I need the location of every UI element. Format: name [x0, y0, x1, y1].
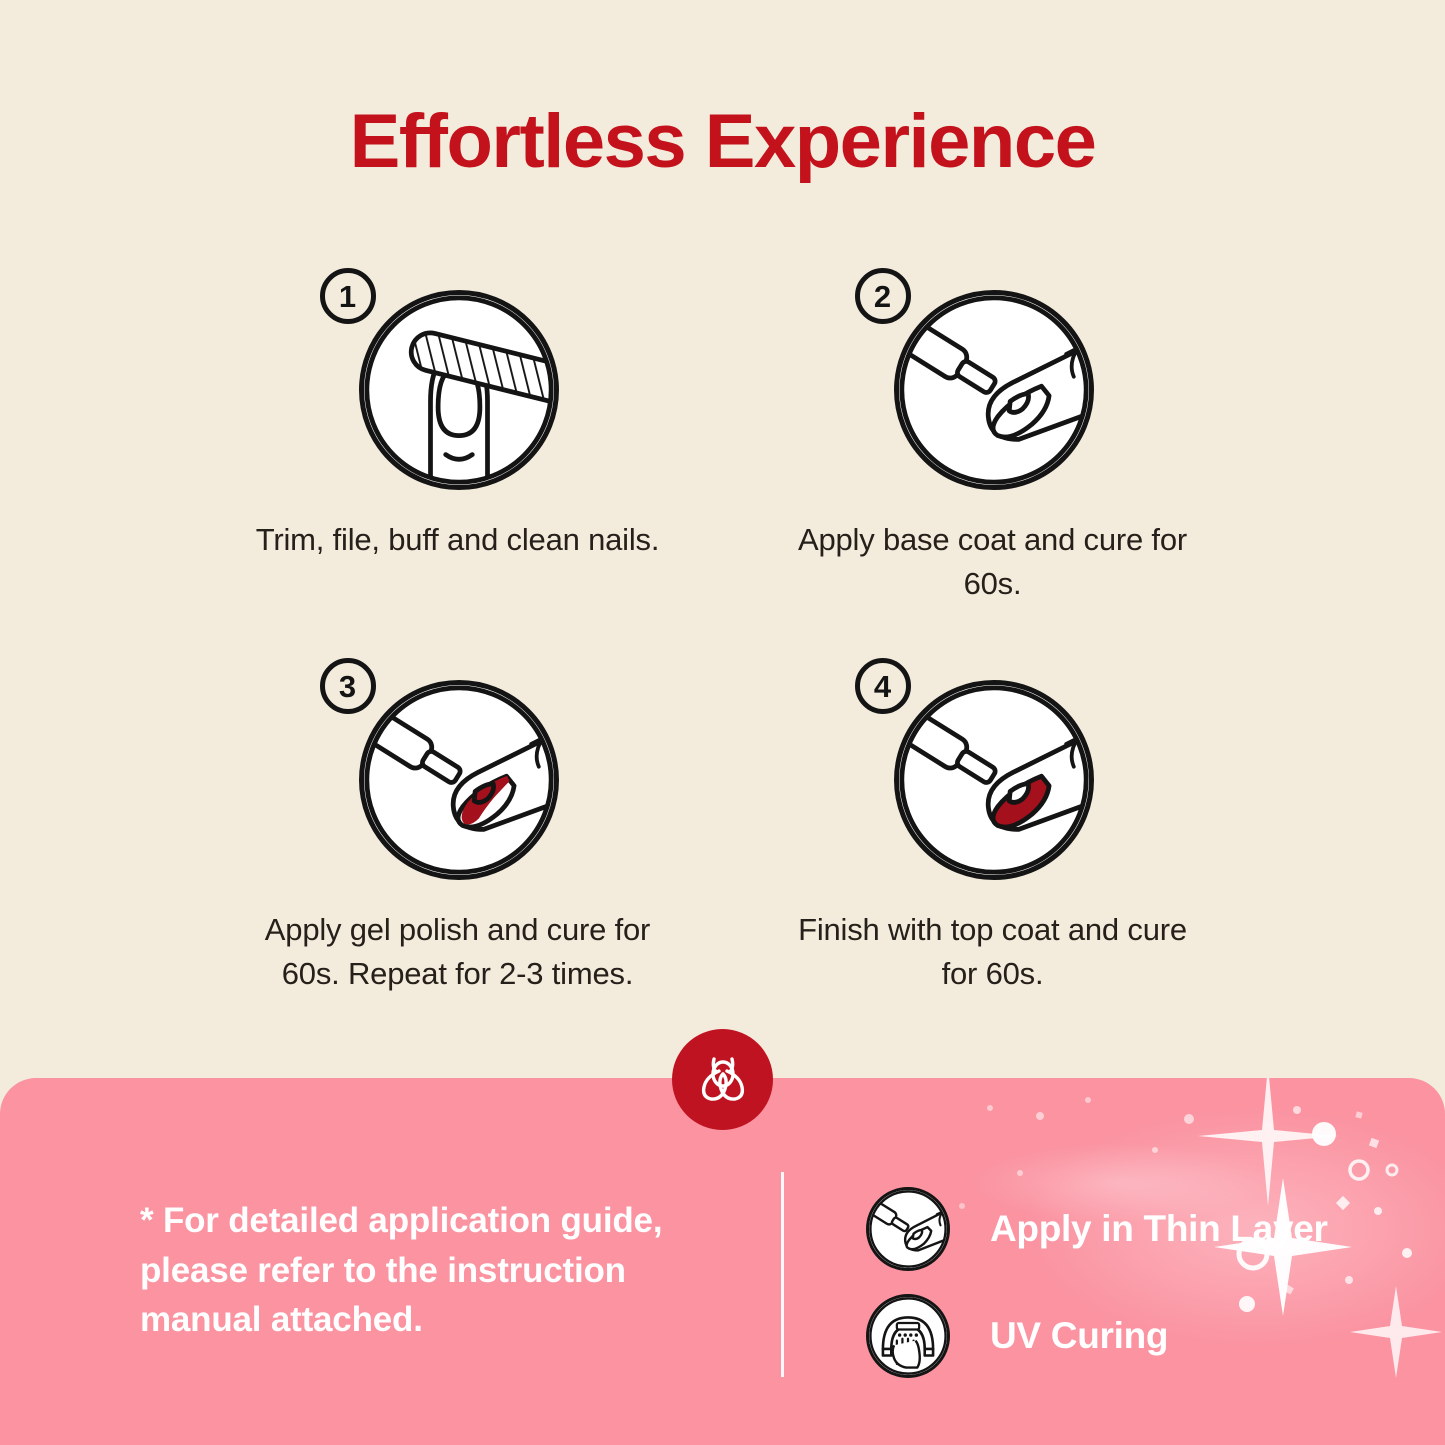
- nail-file-icon: [359, 290, 559, 490]
- gel-polish-brush-icon: [359, 680, 559, 880]
- step-item: 2: [725, 268, 1260, 606]
- step-item: 4: [725, 658, 1260, 996]
- brand-logo-icon: [672, 1029, 773, 1130]
- step-caption: Trim, file, buff and clean nails.: [243, 518, 673, 562]
- footer-divider: [781, 1172, 784, 1377]
- feature-list: Apply in Thin Layer: [866, 1186, 1328, 1400]
- step-number-badge: 1: [320, 268, 376, 324]
- steps-grid: 1: [190, 268, 1260, 996]
- base-coat-brush-icon: [894, 290, 1094, 490]
- step-item: 1: [190, 268, 725, 606]
- step-number-badge: 3: [320, 658, 376, 714]
- top-coat-brush-icon: [894, 680, 1094, 880]
- step-item: 3: [190, 658, 725, 996]
- feature-label: UV Curing: [990, 1315, 1168, 1357]
- feature-item: Apply in Thin Layer: [866, 1186, 1328, 1272]
- step-caption: Apply gel polish and cure for 60s. Repea…: [243, 908, 673, 996]
- feature-label: Apply in Thin Layer: [990, 1208, 1328, 1250]
- thin-layer-brush-icon: [866, 1187, 950, 1271]
- step-illustration: 2: [843, 268, 1143, 490]
- step-illustration: 3: [308, 658, 608, 880]
- feature-item: UV Curing: [866, 1293, 1328, 1379]
- infographic-page: Effortless Experience 1: [0, 0, 1445, 1445]
- step-number-badge: 2: [855, 268, 911, 324]
- step-illustration: 1: [308, 268, 608, 490]
- step-caption: Apply base coat and cure for 60s.: [778, 518, 1208, 606]
- step-caption: Finish with top coat and cure for 60s.: [778, 908, 1208, 996]
- footer-note: * For detailed application guide, please…: [140, 1196, 740, 1345]
- page-title: Effortless Experience: [0, 104, 1445, 180]
- step-number-badge: 4: [855, 658, 911, 714]
- uv-lamp-icon: [866, 1294, 950, 1378]
- step-illustration: 4: [843, 658, 1143, 880]
